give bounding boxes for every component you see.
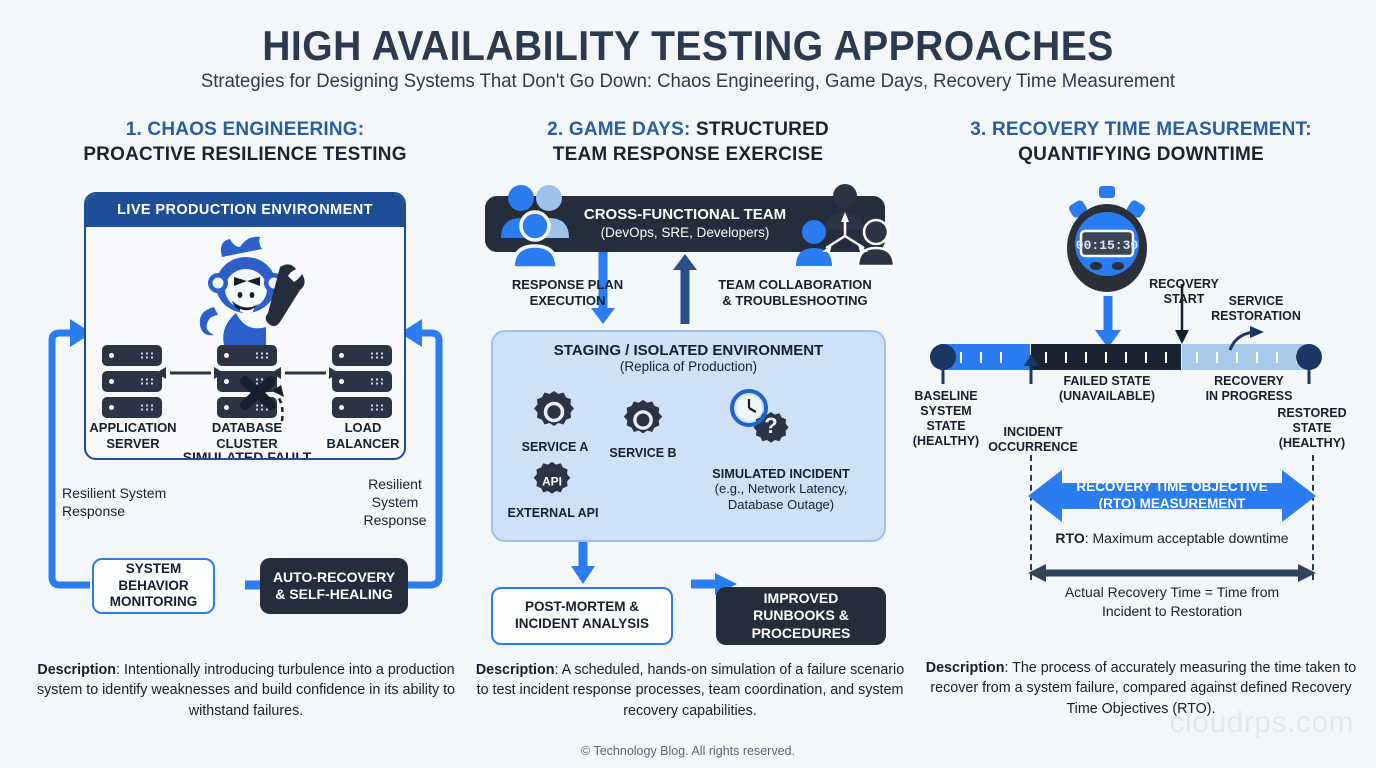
- system-behavior-monitoring-box[interactable]: SYSTEM BEHAVIOR MONITORING: [92, 558, 215, 614]
- monitor-line-1: SYSTEM: [126, 561, 182, 578]
- rto-note-text: : Maximum acceptable downtime: [1085, 530, 1289, 546]
- rto-note-label: RTO: [1055, 530, 1084, 546]
- page-title: HIGH AVAILABILITY TESTING APPROACHES: [48, 22, 1328, 70]
- staging-environment-panel: STAGING / ISOLATED ENVIRONMENT (Replica …: [491, 330, 886, 542]
- rto-measurement-label: RECOVERY TIME OBJECTIVE (RTO) MEASUREMEN…: [1028, 468, 1316, 524]
- simulated-fault-title: SIMULATED FAULT: [86, 449, 406, 460]
- simulated-incident-icon: ?: [725, 388, 801, 458]
- column-game-days: 2. GAME DAYS: STRUCTURED TEAM RESPONSE E…: [468, 118, 908, 167]
- gear-icon: [621, 398, 665, 442]
- stopwatch-icon: 00:15:30: [1056, 186, 1158, 298]
- chaos-monkey-wrench-icon: [184, 233, 314, 345]
- monitor-line-2: BEHAVIOR: [118, 578, 188, 595]
- simulated-incident-caption: SIMULATED INCIDENT (e.g., Network Latenc…: [681, 466, 881, 514]
- description-game-days: Description: A scheduled, hands-on simul…: [470, 660, 910, 721]
- site-watermark: cloudrps.com: [1170, 706, 1354, 740]
- description-3-label: Description: [926, 660, 1005, 676]
- simulated-incident-sub: (e.g., Network Latency,Database Outage): [681, 481, 881, 514]
- column-chaos-engineering: 1. CHAOS ENGINEERING: PROACTIVE RESILIEN…: [30, 118, 460, 167]
- service-a-label: SERVICE A: [511, 440, 599, 454]
- improved-line-1: IMPROVED: [764, 590, 839, 608]
- improved-line-3: PROCEDURES: [752, 625, 851, 643]
- auto-recovery-box[interactable]: AUTO-RECOVERY & SELF-HEALING: [260, 558, 408, 614]
- gear-api-icon: API: [531, 460, 573, 502]
- node-label-application-server: APPLICATIONSERVER: [88, 420, 178, 451]
- timeline-label-service-restoration: SERVICERESTORATION: [1208, 294, 1304, 324]
- timeline-label-restored-state: RESTOREDSTATE (HEALTHY): [1268, 406, 1356, 451]
- timeline-label-incident-occurrence: INCIDENTOCCURRENCE: [983, 425, 1083, 455]
- node-connector-arrows: [86, 337, 406, 423]
- auto-recovery-line-1: AUTO-RECOVERY: [273, 569, 395, 587]
- column-2-heading-rest: TEAM RESPONSE EXERCISE: [553, 144, 823, 165]
- auto-recovery-line-2: & SELF-HEALING: [275, 586, 392, 604]
- timeline-label-baseline-state: BASELINESYSTEM STATE(HEALTHY): [906, 389, 986, 449]
- service-b-label: SERVICE B: [599, 446, 687, 460]
- infographic-canvas: HIGH AVAILABILITY TESTING APPROACHES Str…: [0, 0, 1376, 768]
- description-chaos-engineering: Description: Intentionally introducing t…: [32, 660, 460, 721]
- external-api-label: EXTERNAL API: [503, 506, 603, 520]
- page-subtitle: Strategies for Designing Systems That Do…: [34, 70, 1341, 93]
- monitor-line-3: MONITORING: [110, 594, 198, 611]
- column-1-heading-number: 1. CHAOS ENGINEERING:: [126, 119, 365, 140]
- live-production-panel: LIVE PRODUCTION ENVIRONMENT: [84, 192, 406, 460]
- cross-functional-team-title: CROSS-FUNCTIONAL TEAM: [584, 206, 786, 225]
- column-3-heading-number: 3. RECOVERY TIME MEASUREMENT:: [970, 119, 1312, 140]
- column-1-heading-rest: PROACTIVE RESILIENCE TESTING: [83, 144, 406, 165]
- column-recovery-time: 3. RECOVERY TIME MEASUREMENT: QUANTIFYIN…: [916, 118, 1366, 167]
- gear-icon: [531, 389, 577, 435]
- column-2-heading: 2. GAME DAYS: STRUCTURED TEAM RESPONSE E…: [468, 118, 908, 167]
- column-2-heading-inline: STRUCTURED: [691, 119, 829, 140]
- stopwatch-display: 00:15:30: [1076, 238, 1139, 253]
- column-1-heading: 1. CHAOS ENGINEERING: PROACTIVE RESILIEN…: [30, 118, 460, 167]
- response-plan-execution-label: RESPONSE PLANEXECUTION: [505, 277, 630, 310]
- svg-text:?: ?: [764, 413, 777, 438]
- rto-band-line-2: (RTO) MEASUREMENT: [1099, 496, 1246, 513]
- post-mortem-box[interactable]: POST-MORTEM & INCIDENT ANALYSIS: [491, 587, 673, 645]
- staging-subtitle: (Replica of Production): [493, 359, 884, 374]
- improved-runbooks-box[interactable]: IMPROVED RUNBOOKS & PROCEDURES: [716, 587, 886, 645]
- simulated-incident-title: SIMULATED INCIDENT: [681, 466, 881, 481]
- column-3-heading-rest: QUANTIFYING DOWNTIME: [1018, 144, 1264, 165]
- node-label-database-cluster: DATABASECLUSTER: [202, 420, 292, 451]
- live-production-title: LIVE PRODUCTION ENVIRONMENT: [86, 194, 404, 227]
- actual-recovery-time-note: Actual Recovery Time = Time fromIncident…: [1020, 583, 1324, 621]
- cross-functional-team-sub: (DevOps, SRE, Developers): [601, 225, 770, 242]
- post-mortem-line-2: INCIDENT ANALYSIS: [515, 616, 649, 633]
- improved-line-2: RUNBOOKS &: [753, 607, 849, 625]
- rto-band-line-1: RECOVERY TIME OBJECTIVE: [1076, 479, 1267, 496]
- node-label-load-balancer: LOADBALANCER: [318, 420, 406, 451]
- column-2-heading-number: 2. GAME DAYS:: [547, 119, 690, 140]
- fault-cross-icon: [245, 381, 271, 405]
- resilient-response-right-label: Resilient System Response: [355, 476, 435, 530]
- copyright-footer: © Technology Blog. All rights reserved.: [0, 744, 1376, 758]
- post-mortem-line-1: POST-MORTEM &: [525, 599, 639, 616]
- description-1-label: Description: [37, 662, 116, 678]
- description-2-label: Description: [476, 662, 555, 678]
- actual-recovery-arrow: [1028, 562, 1316, 584]
- staging-title: STAGING / ISOLATED ENVIRONMENT: [493, 342, 884, 359]
- api-badge-text: API: [542, 475, 562, 489]
- team-collaboration-label: TEAM COLLABORATION& TROUBLESHOOTING: [705, 277, 885, 310]
- column-3-heading: 3. RECOVERY TIME MEASUREMENT: QUANTIFYIN…: [916, 118, 1366, 167]
- resilient-response-left-label: Resilient System Response: [62, 485, 197, 521]
- timeline-marker-arrows: [930, 336, 1330, 386]
- rto-note: RTO: Maximum acceptable downtime: [1020, 530, 1324, 546]
